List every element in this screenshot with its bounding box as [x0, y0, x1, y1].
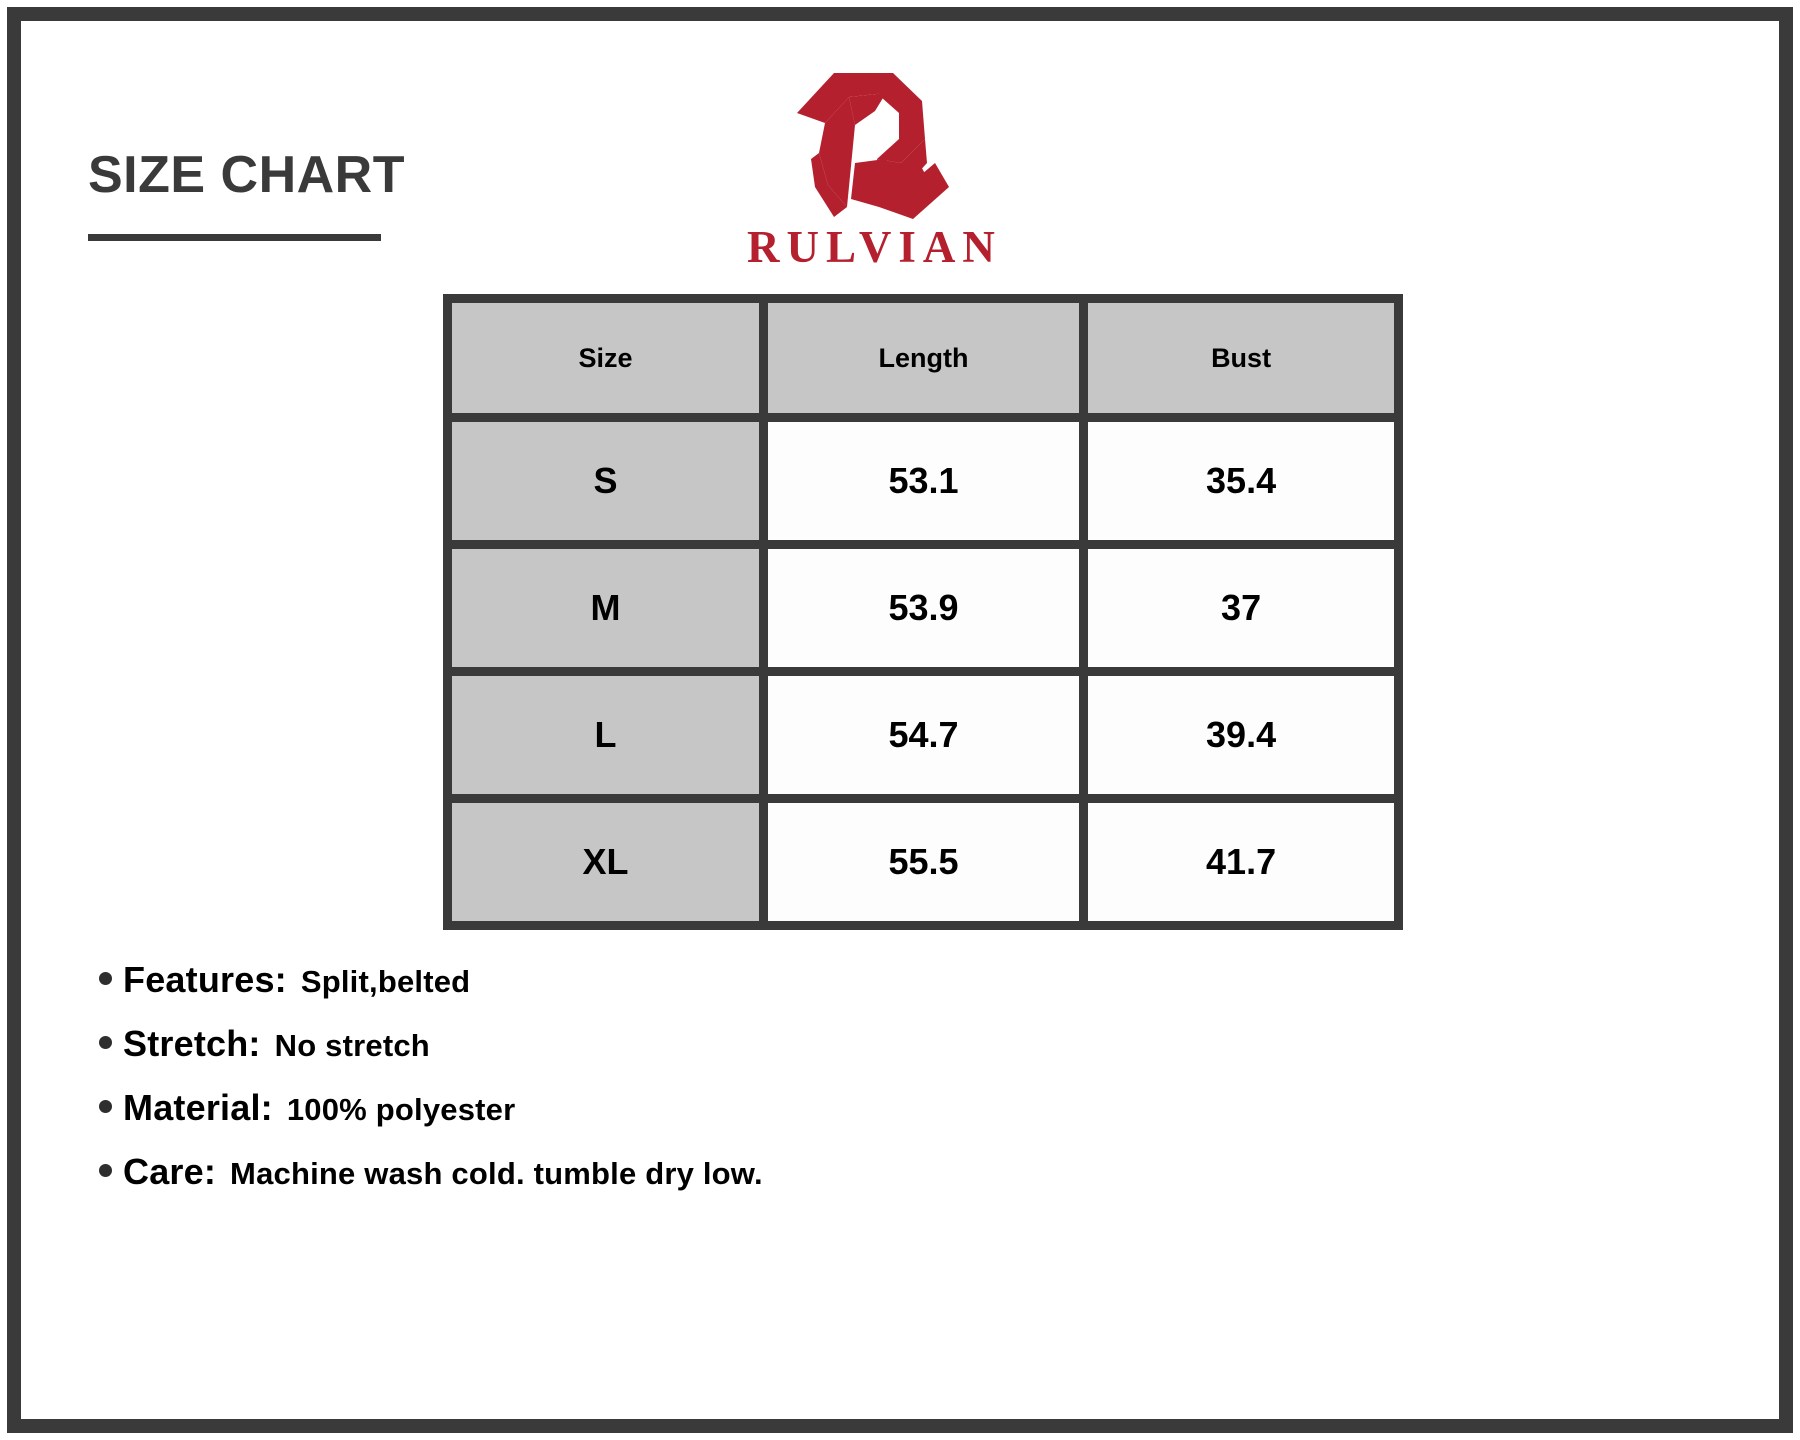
cell-bust: 39.4 [1088, 676, 1394, 794]
spec-value-features: Split,belted [301, 964, 470, 1000]
table-row: S 53.1 35.4 [452, 422, 1394, 540]
cell-length: 53.1 [768, 422, 1079, 540]
bullet-icon [99, 1100, 112, 1113]
bullet-icon [99, 1036, 112, 1049]
column-header-length: Length [768, 303, 1079, 413]
brand-wordmark: RULVIAN [681, 225, 1061, 270]
size-table-container: Size Length Bust S 53.1 35.4 M [443, 294, 1403, 930]
cell-size: M [452, 549, 759, 667]
list-item: Stretch: No stretch [99, 1023, 1299, 1065]
page-title: SIZE CHART [88, 149, 405, 201]
bullet-icon [99, 1164, 112, 1177]
table-header-row: Size Length Bust [452, 303, 1394, 413]
title-underline-rule [88, 234, 381, 241]
column-header-size: Size [452, 303, 759, 413]
spec-value-care: Machine wash cold. tumble dry low. [230, 1156, 763, 1192]
list-item: Material: 100% polyester [99, 1087, 1299, 1129]
spec-label-features: Features: [123, 959, 287, 1001]
spec-label-material: Material: [123, 1087, 273, 1129]
spec-label-care: Care: [123, 1151, 216, 1193]
page-frame: SIZE CHART [7, 7, 1793, 1433]
cell-length: 55.5 [768, 803, 1079, 921]
cell-length: 54.7 [768, 676, 1079, 794]
column-header-bust: Bust [1088, 303, 1394, 413]
spec-value-material: 100% polyester [287, 1092, 516, 1128]
cell-size: S [452, 422, 759, 540]
size-chart-page: SIZE CHART [0, 0, 1800, 1440]
cell-length: 53.9 [768, 549, 1079, 667]
product-specs-list: Features: Split,belted Stretch: No stret… [99, 959, 1299, 1215]
table-row: M 53.9 37 [452, 549, 1394, 667]
spec-value-stretch: No stretch [275, 1028, 430, 1064]
list-item: Care: Machine wash cold. tumble dry low. [99, 1151, 1299, 1193]
title-block: SIZE CHART [88, 149, 405, 241]
spec-label-stretch: Stretch: [123, 1023, 261, 1065]
cell-bust: 37 [1088, 549, 1394, 667]
table-row: L 54.7 39.4 [452, 676, 1394, 794]
list-item: Features: Split,belted [99, 959, 1299, 1001]
bullet-icon [99, 972, 112, 985]
rulvian-r-monogram-icon [789, 67, 954, 219]
cell-bust: 35.4 [1088, 422, 1394, 540]
cell-size: XL [452, 803, 759, 921]
cell-size: L [452, 676, 759, 794]
page-canvas: SIZE CHART [21, 21, 1779, 1419]
brand-logo: RULVIAN [681, 67, 1061, 270]
cell-bust: 41.7 [1088, 803, 1394, 921]
table-row: XL 55.5 41.7 [452, 803, 1394, 921]
size-table: Size Length Bust S 53.1 35.4 M [443, 294, 1403, 930]
